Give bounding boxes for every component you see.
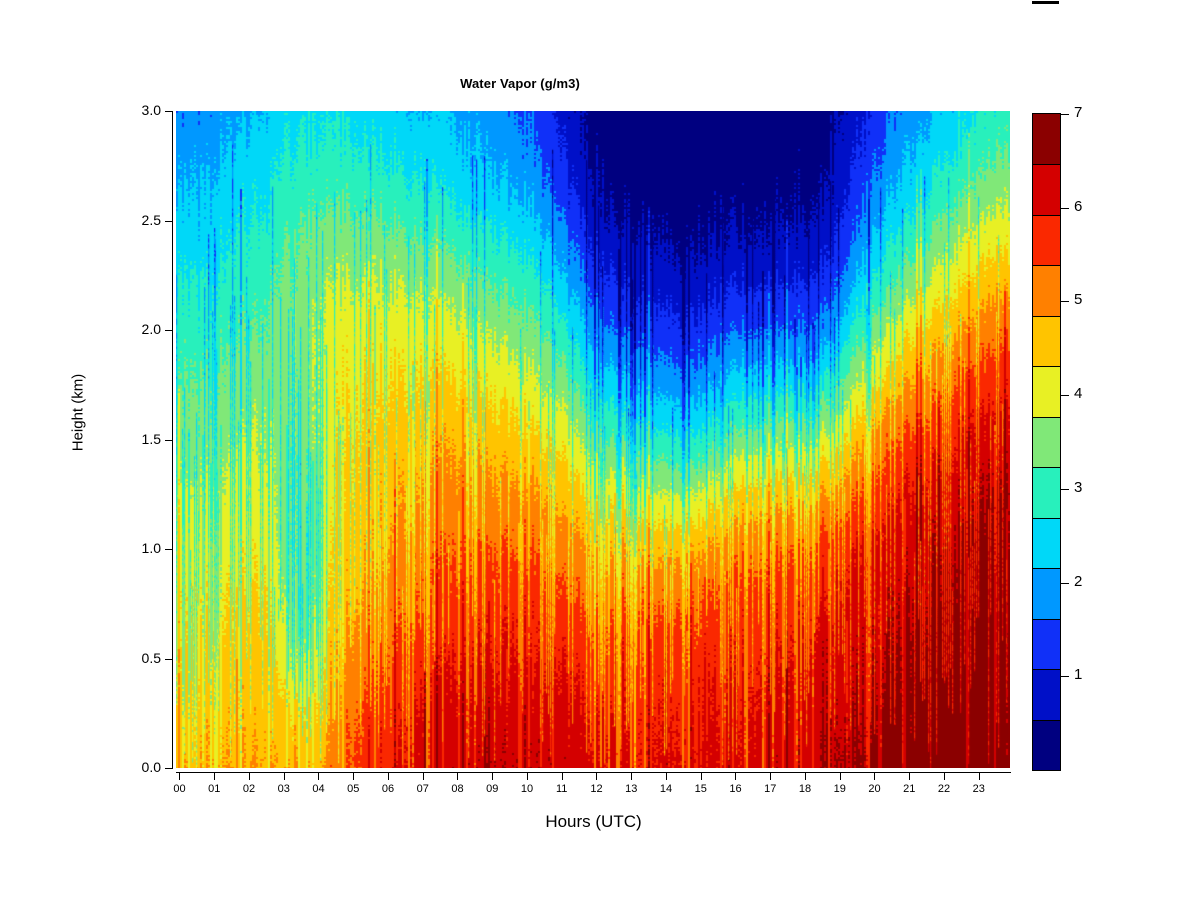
colorbar-tick-mark — [1060, 114, 1069, 115]
x-tick-mark — [944, 772, 945, 780]
x-tick-mark — [457, 772, 458, 780]
y-tick-label: 2.5 — [142, 212, 161, 228]
colorbar-band — [1033, 568, 1060, 618]
y-tick: 2.0 — [100, 330, 172, 331]
x-tick-label: 10 — [511, 783, 543, 795]
x-tick-mark — [492, 772, 493, 780]
colorbar-band — [1033, 518, 1060, 568]
colorbar-band — [1033, 720, 1060, 770]
colorbar-tick: 6 — [1060, 208, 1106, 209]
x-tick-mark — [596, 772, 597, 780]
y-tick-label: 2.0 — [142, 321, 161, 337]
colorbar-tick-mark — [1060, 489, 1069, 490]
x-tick-label: 22 — [928, 783, 960, 795]
x-tick-label: 07 — [407, 783, 439, 795]
colorbar-band — [1033, 316, 1060, 366]
x-tick-mark — [388, 772, 389, 780]
colorbar-tick: 4 — [1060, 395, 1106, 396]
colorbar-band — [1033, 164, 1060, 214]
y-tick-label: 3.0 — [142, 102, 161, 118]
x-tick-mark — [701, 772, 702, 780]
colorbar-band — [1033, 114, 1060, 164]
y-tick-label: 1.5 — [142, 431, 161, 447]
x-tick-label: 03 — [268, 783, 300, 795]
y-tick-mark — [165, 330, 172, 331]
colorbar-band — [1033, 366, 1060, 416]
colorbar-tick-mark — [1060, 208, 1069, 209]
x-tick-mark — [423, 772, 424, 780]
y-tick-label: 1.0 — [142, 540, 161, 556]
x-tick-mark — [562, 772, 563, 780]
colorbar-tick-label: 2 — [1074, 573, 1082, 590]
page-title: Water Vapor (g/m3) — [0, 76, 1040, 91]
y-tick: 0.0 — [100, 768, 172, 769]
colorbar-band — [1033, 265, 1060, 315]
x-tick-label: 09 — [476, 783, 508, 795]
x-tick-mark — [840, 772, 841, 780]
x-tick-label: 00 — [163, 783, 195, 795]
x-tick-mark — [249, 772, 250, 780]
x-tick-label: 08 — [441, 783, 473, 795]
colorbar-band — [1033, 669, 1060, 719]
x-tick-mark — [979, 772, 980, 780]
y-axis-title: Height (km) — [70, 323, 87, 503]
colorbar-tick: 3 — [1060, 489, 1106, 490]
colorbar-band — [1033, 619, 1060, 669]
water-vapor-time-height-plot: Water Vapor (g/m3) 0.00.51.01.52.02.53.0… — [0, 0, 1200, 900]
x-tick-label: 20 — [858, 783, 890, 795]
y-tick: 1.0 — [100, 549, 172, 550]
colorbar-tick-label: 7 — [1074, 104, 1082, 121]
x-tick-mark — [805, 772, 806, 780]
x-tick-label: 11 — [546, 783, 578, 795]
y-tick-mark — [165, 659, 172, 660]
colorbar — [1032, 113, 1061, 771]
y-tick-mark — [165, 549, 172, 550]
x-tick-mark — [909, 772, 910, 780]
x-tick-label: 06 — [372, 783, 404, 795]
x-tick-mark — [631, 772, 632, 780]
y-tick-mark — [165, 768, 172, 769]
colorbar-tick-label: 1 — [1074, 666, 1082, 683]
x-tick-mark — [527, 772, 528, 780]
y-tick: 3.0 — [100, 111, 172, 112]
y-tick-mark — [165, 440, 172, 441]
x-tick-label: 23 — [963, 783, 995, 795]
x-tick-label: 12 — [580, 783, 612, 795]
x-tick-mark — [874, 772, 875, 780]
colorbar-tick: 5 — [1060, 301, 1106, 302]
y-axis-line — [172, 111, 173, 769]
top-edge-artifact — [1032, 1, 1059, 4]
colorbar-band — [1033, 467, 1060, 517]
colorbar-tick-mark — [1060, 676, 1069, 677]
y-tick: 1.5 — [100, 440, 172, 441]
x-axis-line — [176, 772, 1011, 773]
x-tick-mark — [179, 772, 180, 780]
x-tick-mark — [353, 772, 354, 780]
x-tick-mark — [735, 772, 736, 780]
y-tick-mark — [165, 221, 172, 222]
x-tick-label: 15 — [685, 783, 717, 795]
x-tick-mark — [666, 772, 667, 780]
x-tick-label: 01 — [198, 783, 230, 795]
colorbar-tick-label: 3 — [1074, 479, 1082, 496]
x-tick-label: 02 — [233, 783, 265, 795]
x-tick-mark — [770, 772, 771, 780]
y-tick-mark — [165, 111, 172, 112]
colorbar-tick-label: 5 — [1074, 291, 1082, 308]
x-tick-label: 21 — [893, 783, 925, 795]
colorbar-tick-label: 6 — [1074, 198, 1082, 215]
colorbar-band — [1033, 215, 1060, 265]
x-tick-label: 16 — [719, 783, 751, 795]
x-tick-mark — [284, 772, 285, 780]
x-tick-label: 17 — [754, 783, 786, 795]
y-tick: 0.5 — [100, 659, 172, 660]
y-tick-label: 0.5 — [142, 650, 161, 666]
x-tick-mark — [318, 772, 319, 780]
colorbar-tick: 1 — [1060, 676, 1106, 677]
colorbar-tick: 2 — [1060, 583, 1106, 584]
heatmap-canvas — [176, 111, 1010, 768]
x-tick-label: 13 — [615, 783, 647, 795]
colorbar-tick-mark — [1060, 301, 1069, 302]
y-tick: 2.5 — [100, 221, 172, 222]
x-tick-label: 19 — [824, 783, 856, 795]
colorbar-tick-label: 4 — [1074, 385, 1082, 402]
colorbar-tick-mark — [1060, 583, 1069, 584]
y-tick-label: 0.0 — [142, 759, 161, 775]
colorbar-band — [1033, 417, 1060, 467]
colorbar-tick: 7 — [1060, 114, 1106, 115]
x-tick-label: 04 — [302, 783, 334, 795]
heatmap-plot-area — [176, 111, 1010, 768]
x-tick-label: 05 — [337, 783, 369, 795]
x-tick-label: 14 — [650, 783, 682, 795]
x-axis-title: Hours (UTC) — [176, 812, 1011, 832]
colorbar-tick-mark — [1060, 395, 1069, 396]
x-tick-mark — [214, 772, 215, 780]
x-tick-label: 18 — [789, 783, 821, 795]
